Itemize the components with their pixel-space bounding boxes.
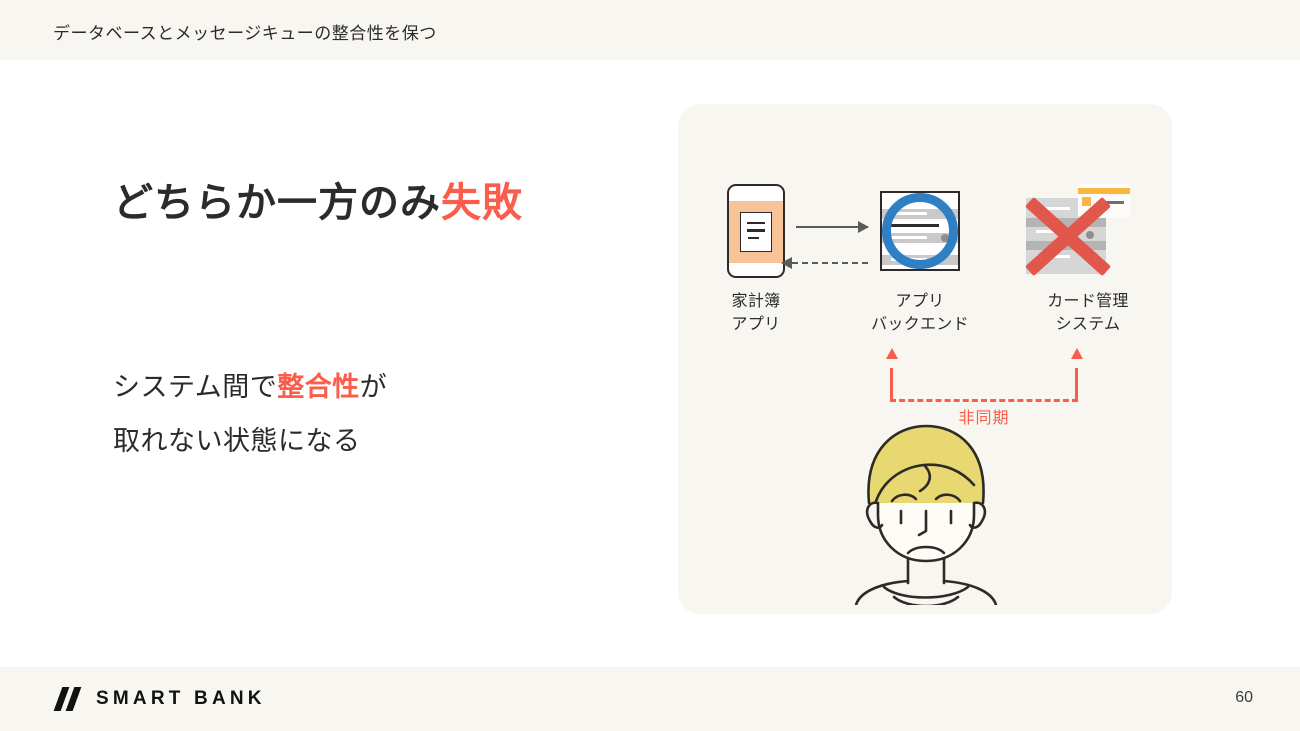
slide: データベースとメッセージキューの整合性を保つ どちらか一方のみ失敗 システム間で… — [0, 0, 1300, 731]
worried-person-icon — [838, 419, 1014, 605]
diagram-node-app-backend: アプリ バックエンド — [850, 184, 990, 336]
page-title: データベースとメッセージキューの整合性を保つ — [53, 19, 437, 44]
phone-body — [727, 184, 785, 278]
body-line-1: システム間で整合性が — [113, 360, 387, 414]
async-connector — [890, 356, 1078, 402]
document-icon — [740, 212, 772, 252]
headline-accent: 失敗 — [441, 181, 523, 225]
async-arrow-right-icon — [1071, 348, 1083, 359]
node-label-household-app: 家計簿 アプリ — [686, 290, 826, 336]
body-line-1-prefix: システム間で — [113, 372, 277, 402]
failure-cross-icon — [1022, 194, 1114, 278]
headline: どちらか一方のみ失敗 — [113, 170, 523, 228]
smartbank-logo-icon — [56, 686, 82, 712]
server-failed-icon — [1018, 184, 1158, 280]
body-line-1-accent: 整合性 — [277, 372, 360, 402]
page-number: 60 — [1235, 689, 1253, 707]
headline-plain: どちらか一方のみ — [113, 181, 441, 225]
processing-ring-icon — [882, 193, 958, 269]
node-label-app-backend: アプリ バックエンド — [850, 290, 990, 336]
diagram-node-household-app: 家計簿 アプリ — [686, 184, 826, 336]
node-label-card-management-system: カード管理 システム — [1018, 290, 1158, 336]
diagram-node-card-management-system: カード管理 システム — [1018, 184, 1158, 336]
body-line-1-suffix: が — [360, 372, 388, 402]
server-processing-icon — [850, 184, 990, 280]
brand-logo: SMART BANK — [56, 686, 266, 712]
async-arrow-left-icon — [886, 348, 898, 359]
body-line-2: 取れない状態になる — [113, 414, 387, 468]
brand-name: SMART BANK — [96, 688, 266, 710]
smartphone-icon — [686, 184, 826, 280]
body-copy: システム間で整合性が 取れない状態になる — [113, 360, 387, 468]
diagram-panel: 家計簿 アプリ アプリ バックエンド — [678, 104, 1172, 614]
